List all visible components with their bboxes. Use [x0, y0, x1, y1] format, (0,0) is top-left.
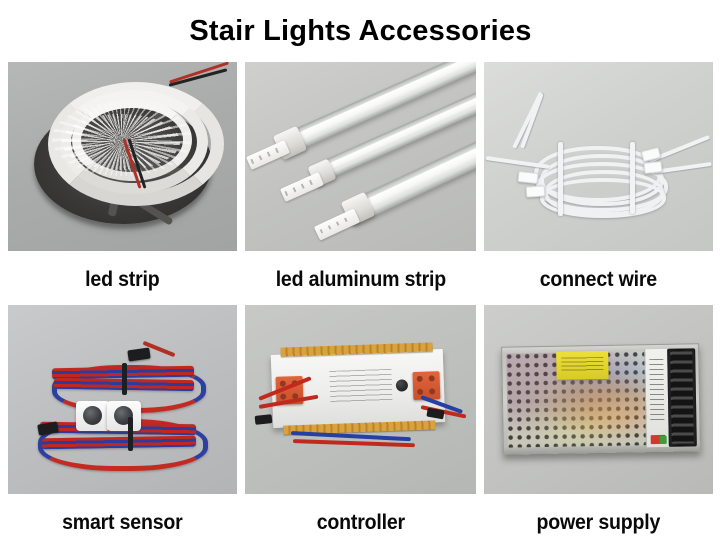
sensor-cable-tie-b	[128, 417, 133, 451]
power-supply-yellow-label	[556, 351, 608, 380]
accessory-cell-connect-wire[interactable]: connect wire	[484, 62, 713, 305]
wire-cable-tie-right	[630, 142, 635, 214]
caption-smart-sensor: smart sensor	[16, 494, 229, 548]
power-supply-terminal-block	[667, 348, 697, 446]
wire-connector-left-a	[518, 171, 539, 184]
controller-pin-header-top	[281, 342, 433, 356]
power-supply-ground-marking	[660, 436, 667, 444]
controller-connector-left	[254, 414, 272, 425]
accessory-cell-led-aluminum-strip[interactable]: led aluminum strip	[245, 62, 477, 305]
led-diodes-inner	[62, 114, 180, 170]
accessory-grid: led strip	[8, 62, 713, 548]
caption-connect-wire: connect wire	[492, 251, 705, 305]
accessory-cell-controller[interactable]: controller	[245, 305, 477, 548]
pir-sensor-head-left	[76, 401, 110, 431]
smart-sensor-photo[interactable]	[8, 305, 237, 494]
pir-sensor-head-right	[107, 401, 141, 431]
wire-connector-right-b	[644, 161, 663, 174]
accessory-cell-led-strip[interactable]: led strip	[8, 62, 237, 305]
sensor-connector-top	[127, 348, 150, 362]
wire-connector-left-b	[526, 185, 546, 197]
page-title: Stair Lights Accessories	[0, 0, 721, 46]
controller-print-label	[329, 368, 392, 402]
caption-led-aluminum-strip: led aluminum strip	[253, 251, 468, 305]
caption-controller: controller	[253, 494, 468, 548]
accessory-grid-row-2: smart sensor	[8, 305, 713, 548]
controller-knob	[395, 379, 407, 391]
alu-bar-pcb-1	[246, 140, 290, 170]
led-strip-photo[interactable]	[8, 62, 237, 251]
accessory-cell-power-supply[interactable]: power supply	[484, 305, 713, 548]
controller-terminal-right	[412, 371, 440, 400]
power-supply-body	[501, 343, 701, 454]
accessory-cell-smart-sensor[interactable]: smart sensor	[8, 305, 237, 548]
alu-bar-pcb-3	[314, 208, 360, 240]
sensor-cable-tie-a	[122, 363, 127, 395]
power-supply-photo[interactable]	[484, 305, 713, 494]
connect-wire-photo[interactable]	[484, 62, 713, 251]
accessory-grid-row-1: led strip	[8, 62, 713, 305]
controller-body	[270, 349, 444, 428]
wire-connector-right-a	[641, 147, 661, 162]
wire-cable-tie-left	[558, 142, 563, 216]
caption-led-strip: led strip	[16, 251, 229, 305]
wire-free-end-right-lower	[654, 162, 712, 174]
power-supply-spec-panel	[644, 349, 669, 447]
alu-bar-pcb-2	[280, 172, 324, 202]
wire-free-end-right-upper	[652, 135, 711, 162]
led-aluminum-strip-photo[interactable]	[245, 62, 477, 251]
controller-photo[interactable]	[245, 305, 477, 494]
caption-power-supply: power supply	[492, 494, 705, 548]
